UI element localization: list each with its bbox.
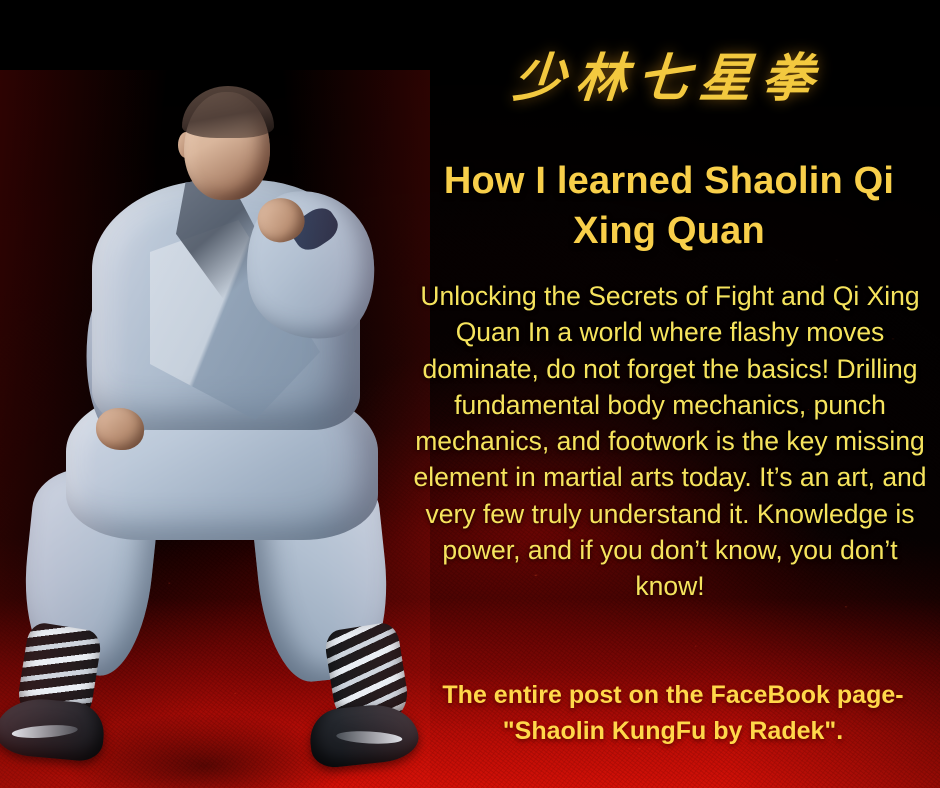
- figure-chambered-fist: [96, 408, 144, 450]
- poster-canvas: 少林七星拳 How I learned Shaolin Qi Xing Quan…: [0, 0, 940, 788]
- shoe-stripe-icon: [336, 730, 403, 745]
- page-title: How I learned Shaolin Qi Xing Quan: [406, 156, 932, 256]
- figure-hair: [182, 86, 274, 138]
- body-paragraph: Unlocking the Secrets of Fight and Qi Xi…: [406, 278, 934, 605]
- text-column: 少林七星拳 How I learned Shaolin Qi Xing Quan…: [398, 0, 940, 788]
- shoe-stripe-icon: [11, 723, 78, 740]
- chinese-calligraphy-title: 少林七星拳: [395, 36, 940, 111]
- facebook-cta-text: The entire post on the FaceBook page-"Sh…: [416, 678, 930, 749]
- martial-artist-figure: [0, 70, 430, 788]
